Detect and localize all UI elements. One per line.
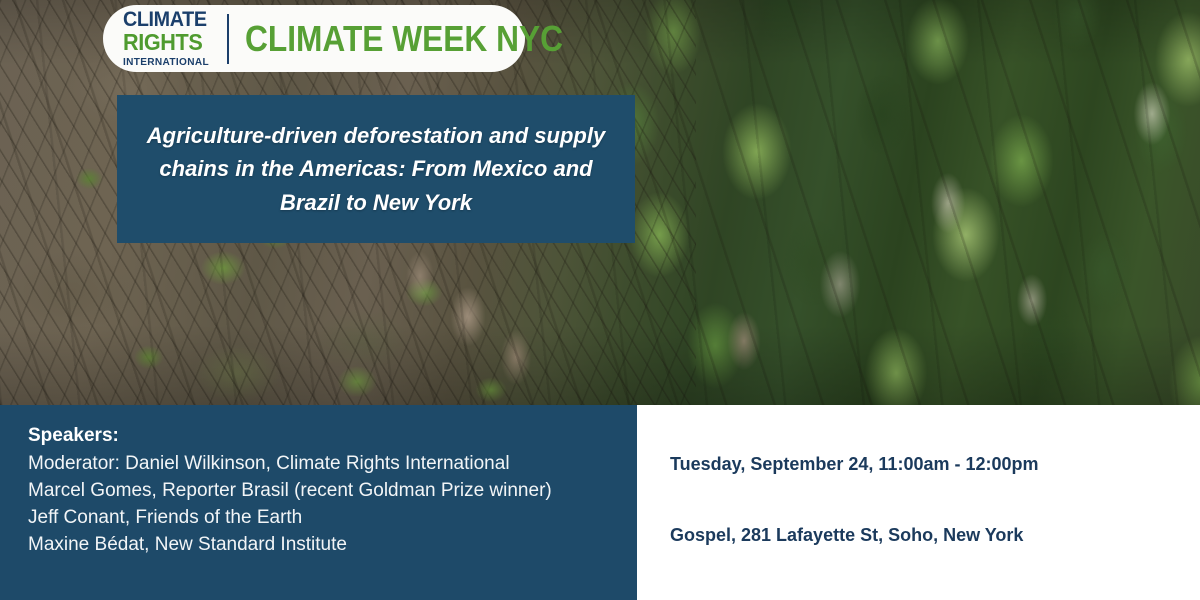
climate-week-nyc-wordmark: CLIMATE WEEK NYC	[245, 21, 563, 57]
event-title: Agriculture-driven deforestation and sup…	[143, 119, 609, 219]
climate-rights-international-logo: CLIMATE RIGHTS INTERNATIONAL	[123, 9, 227, 68]
speaker-line-moderator: Moderator: Daniel Wilkinson, Climate Rig…	[28, 451, 613, 478]
logo-word-rights: RIGHTS	[123, 31, 202, 54]
speakers-panel: Speakers: Moderator: Daniel Wilkinson, C…	[0, 405, 637, 600]
event-datetime: Tuesday, September 24, 11:00am - 12:00pm	[670, 453, 1200, 476]
logo-word-international: INTERNATIONAL	[123, 57, 209, 68]
speaker-line-jeff-conant: Jeff Conant, Friends of the Earth	[28, 505, 613, 532]
event-details-panel: Tuesday, September 24, 11:00am - 12:00pm…	[637, 405, 1200, 600]
speaker-line-marcel-gomes: Marcel Gomes, Reporter Brasil (recent Go…	[28, 478, 613, 505]
speakers-heading: Speakers:	[28, 423, 613, 449]
bottom-info-bar: Speakers: Moderator: Daniel Wilkinson, C…	[0, 405, 1200, 600]
headline-panel: Agriculture-driven deforestation and sup…	[117, 95, 635, 243]
speaker-line-maxine-bedat: Maxine Bédat, New Standard Institute	[28, 532, 613, 559]
logo-divider	[227, 14, 229, 64]
event-banner: CLIMATE RIGHTS INTERNATIONAL CLIMATE WEE…	[0, 0, 1200, 600]
event-venue: Gospel, 281 Lafayette St, Soho, New York	[670, 524, 1200, 547]
logo-lockup: CLIMATE RIGHTS INTERNATIONAL CLIMATE WEE…	[103, 5, 525, 72]
logo-word-climate: CLIMATE	[123, 9, 207, 30]
